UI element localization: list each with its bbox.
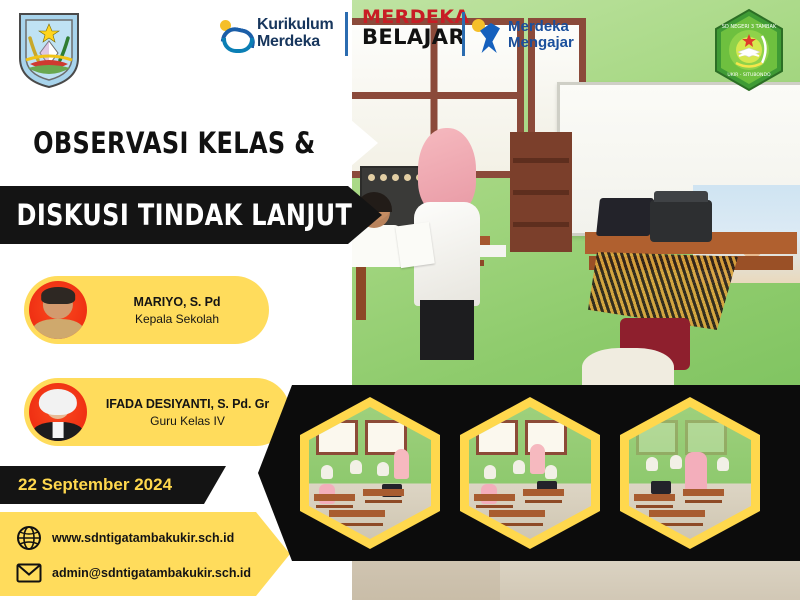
avatar bbox=[29, 383, 87, 441]
mengajar-line2: Mengajar bbox=[508, 35, 574, 51]
date-band: 22 September 2024 bbox=[0, 466, 226, 504]
kurikulum-line2: Merdeka bbox=[257, 34, 333, 51]
logo-divider-1 bbox=[345, 12, 348, 56]
merdeka-mengajar-mark-icon bbox=[470, 17, 502, 53]
person-name: IFADA DESIYANTI, S. Pd. Gr bbox=[99, 397, 276, 411]
photo-bookshelf bbox=[510, 132, 572, 252]
merdeka-mengajar-logo: Merdeka Mengajar bbox=[470, 10, 610, 60]
contact-email-row[interactable]: admin@sdntigatambakukir.sch.id bbox=[16, 560, 251, 586]
kurikulum-merdeka-mark-icon bbox=[218, 18, 250, 50]
title-band-line1: OBSERVASI KELAS & bbox=[0, 114, 378, 172]
logo-divider-2 bbox=[462, 12, 465, 56]
person-role: Guru Kelas IV bbox=[99, 414, 276, 428]
kurikulum-line1: Kurikulum bbox=[257, 17, 333, 34]
contact-band: www.sdntigatambakukir.sch.id admin@sdnti… bbox=[0, 512, 290, 596]
poster-root: Kurikulum Merdeka MERDEKA BELAJAR Merdek… bbox=[0, 0, 800, 600]
gallery-photo-2 bbox=[469, 407, 591, 539]
photo-laptop bbox=[596, 198, 654, 236]
gallery-photo-1 bbox=[309, 407, 431, 539]
envelope-icon bbox=[16, 560, 42, 586]
page-title-line2: DISKUSI TINDAK LANJUT bbox=[0, 198, 352, 232]
website-text: www.sdntigatambakukir.sch.id bbox=[52, 531, 234, 545]
title-band-line2: DISKUSI TINDAK LANJUT bbox=[0, 186, 382, 244]
globe-icon bbox=[16, 525, 42, 551]
contact-website-row[interactable]: www.sdntigatambakukir.sch.id bbox=[16, 525, 234, 551]
page-title-line1: OBSERVASI KELAS & bbox=[0, 126, 316, 160]
merdeka-belajar-logo: MERDEKA BELAJAR bbox=[362, 8, 458, 62]
event-date: 22 September 2024 bbox=[0, 475, 172, 495]
mengajar-line1: Merdeka bbox=[508, 19, 574, 35]
person-role: Kepala Sekolah bbox=[99, 312, 255, 326]
school-hexagon-emblem-icon: SD NEGERI 3 TAMBAK UKIR - SITUBONDO bbox=[712, 8, 786, 92]
regency-emblem-icon bbox=[16, 8, 82, 90]
email-text: admin@sdntigatambakukir.sch.id bbox=[52, 566, 251, 580]
svg-text:UKIR - SITUBONDO: UKIR - SITUBONDO bbox=[727, 72, 771, 78]
photo-teacher bbox=[410, 128, 484, 358]
svg-text:SD NEGERI 3 TAMBAK: SD NEGERI 3 TAMBAK bbox=[722, 24, 777, 30]
person-card-guru-kelas: IFADA DESIYANTI, S. Pd. Gr Guru Kelas IV bbox=[24, 378, 290, 446]
person-card-kepala-sekolah: MARIYO, S. Pd Kepala Sekolah bbox=[24, 276, 269, 344]
merdeka-belajar-line2: BELAJAR bbox=[362, 27, 458, 48]
photo-printer bbox=[650, 200, 712, 242]
avatar bbox=[29, 281, 87, 339]
person-name: MARIYO, S. Pd bbox=[99, 295, 255, 309]
kurikulum-merdeka-logo: Kurikulum Merdeka bbox=[218, 10, 338, 58]
gallery-photo-3 bbox=[629, 407, 751, 539]
